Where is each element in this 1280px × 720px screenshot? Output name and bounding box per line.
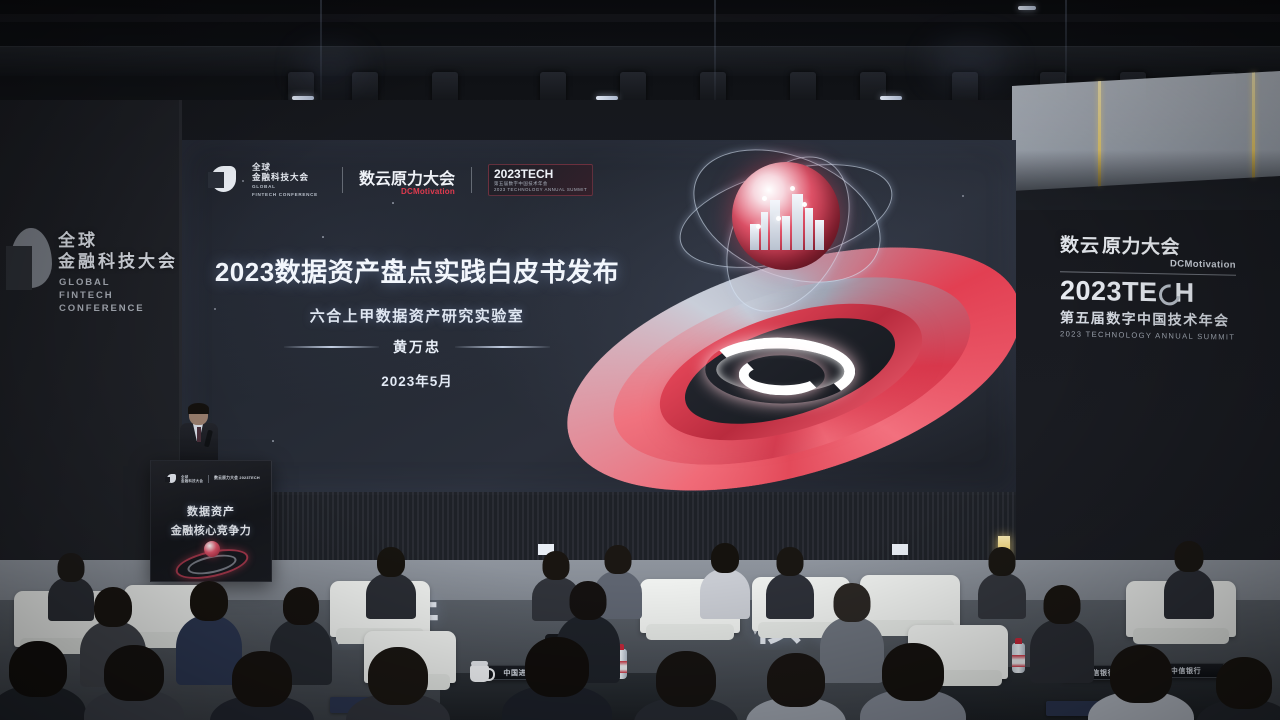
- person-head: [989, 547, 1016, 576]
- screen-fintech-cn-l1: 全球: [252, 162, 318, 172]
- person-head: [377, 547, 405, 577]
- fintech-logo-icon: [208, 166, 236, 194]
- person-head: [570, 581, 607, 620]
- left-wall-signage: 全球 金融科技大会 GLOBAL FINTECH CONFERENCE: [6, 226, 178, 318]
- light-haze: [300, 48, 360, 88]
- person-head: [1044, 585, 1081, 624]
- audience-person: [746, 653, 846, 720]
- left-wall-en-text: GLOBAL FINTECH CONFERENCE: [59, 276, 178, 315]
- left-wall-en-line1: GLOBAL: [59, 276, 178, 289]
- audience-person: [634, 651, 738, 720]
- data-sphere: [732, 162, 840, 270]
- right-wall-brand-row: 数云 原力大会: [1060, 230, 1236, 260]
- screen-year-main: 2023TECH: [494, 167, 587, 181]
- audience-person: [700, 543, 750, 617]
- podium-logo-dc: 数云原力大会 2023TECH: [214, 476, 260, 481]
- screen-presenter-name: 黄万忠: [393, 337, 441, 357]
- ceiling-led-bar: [1018, 6, 1036, 10]
- screen-fintech-en-l1: GLOBAL: [252, 184, 318, 190]
- screen-fintech-text: 全球 金融科技大会 GLOBAL FINTECH CONFERENCE: [252, 162, 318, 198]
- truss-upper-beam: [0, 14, 1280, 22]
- person-head: [525, 637, 589, 697]
- podium-logo-row: 全球金融科技大会 数云原力大会 2023TECH: [167, 474, 260, 483]
- person-body: [700, 569, 750, 619]
- person-head: [777, 547, 804, 576]
- screen-header-logos: 全球 金融科技大会 GLOBAL FINTECH CONFERENCE 数云原力…: [208, 162, 593, 198]
- person-head: [656, 651, 716, 707]
- person-head: [94, 587, 132, 627]
- podium-logo-cn: 全球金融科技大会: [181, 475, 203, 483]
- person-head: [283, 587, 319, 625]
- audience-person: [1030, 585, 1094, 681]
- conference-stage-screenshot: 全球 金融科技大会 GLOBAL FINTECH CONFERENCE 数云 原…: [0, 0, 1280, 720]
- speaker-hair: [188, 403, 209, 414]
- person-body: [366, 573, 416, 619]
- podium-title-line1: 数据资产: [151, 503, 271, 519]
- main-led-screen: 全球 金融科技大会 GLOBAL FINTECH CONFERENCE 数云原力…: [182, 140, 1016, 492]
- screen-title-block: 2023数据资产盘点实践白皮书发布 六合上甲数据资产研究实验室 黄万忠 2023…: [202, 252, 632, 390]
- logo-divider: [342, 167, 343, 193]
- left-wall-en-line2: FINTECH CONFERENCE: [59, 289, 178, 315]
- person-head: [232, 651, 292, 707]
- left-wall-cn-text: 全球 金融科技大会: [58, 230, 178, 272]
- screen-dc-cn: 数云原力大会: [359, 165, 455, 189]
- person-head: [882, 643, 944, 701]
- person-body: [978, 573, 1026, 619]
- fintech-logo-icon: [167, 474, 176, 483]
- city-skyline-icon: [748, 188, 828, 250]
- audience-person: [1164, 541, 1214, 617]
- person-head: [834, 583, 871, 622]
- left-wall-line2: 金融科技大会: [58, 251, 178, 272]
- person-head: [368, 647, 428, 705]
- person-head: [1216, 657, 1272, 709]
- person-head: [767, 653, 825, 707]
- audience-person: [978, 547, 1026, 617]
- audience-person: [346, 647, 450, 720]
- person-head: [104, 645, 164, 701]
- right-wall-signage: 数云 原力大会 DCMotivation 2023TE H 第五届数字中国技术年…: [1060, 230, 1236, 341]
- screen-main-title: 2023数据资产盘点实践白皮书发布: [202, 252, 632, 289]
- person-head: [9, 641, 67, 697]
- person-head: [1110, 645, 1172, 703]
- audience-person: [366, 547, 416, 617]
- speaker-presenter: [178, 404, 218, 466]
- screen-fintech-cn-l2: 金融科技大会: [252, 172, 318, 182]
- stage-3d-graphic: [577, 146, 1016, 492]
- fintech-logo-icon: [6, 228, 52, 306]
- screen-dc-logo: 数云原力大会 DCMotivation: [359, 165, 455, 196]
- person-head: [58, 553, 85, 582]
- right-wall-shadow: [1012, 150, 1280, 210]
- light-haze: [930, 40, 1010, 86]
- right-wall-tech-left: 2023TE: [1060, 275, 1158, 308]
- tea-mug: [470, 665, 489, 682]
- person-head: [1175, 541, 1204, 572]
- audience-person: [860, 643, 966, 720]
- audience-person: [502, 637, 612, 720]
- speaker-tie: [197, 427, 201, 442]
- audience-person: [1088, 645, 1194, 720]
- person-head: [605, 545, 632, 574]
- audience-person: [210, 651, 314, 720]
- left-wall-line1: 全球: [58, 230, 178, 251]
- audience-person: [1196, 657, 1280, 720]
- audience-person: [0, 641, 86, 720]
- right-wall-brand-a: 数云: [1060, 230, 1100, 258]
- podium-logo-divider: [208, 475, 209, 483]
- audience-person: [84, 645, 184, 720]
- right-wall-tech-row: 2023TE H: [1060, 275, 1236, 309]
- audience-area: 中国进出口银行 中信银行 中信银行: [0, 525, 1280, 720]
- right-wall-brand-b: 原力大会: [1102, 231, 1180, 259]
- screen-subtitle: 六合上甲数据资产研究实验室: [202, 305, 632, 326]
- person-head: [190, 581, 228, 621]
- person-head: [543, 551, 570, 580]
- screen-year-sub-en: 2023 TECHNOLOGY ANNUAL SUMMIT: [494, 187, 587, 193]
- person-head: [711, 543, 739, 573]
- audience-person: [766, 547, 814, 617]
- person-body: [1030, 619, 1094, 683]
- person-body: [1164, 569, 1214, 619]
- logo-divider: [471, 167, 472, 193]
- rule-right: [455, 346, 550, 348]
- rule-left: [284, 346, 379, 348]
- water-bottle: [1012, 643, 1025, 673]
- screen-date: 2023年5月: [202, 370, 632, 390]
- swoosh-icon: [1158, 281, 1175, 301]
- person-body: [766, 573, 814, 619]
- screen-fintech-en-l2: FINTECH CONFERENCE: [252, 192, 318, 198]
- screen-presenter-row: 黄万忠: [202, 337, 632, 357]
- right-wall-summit-cn: 第五届数字中国技术年会: [1060, 307, 1236, 330]
